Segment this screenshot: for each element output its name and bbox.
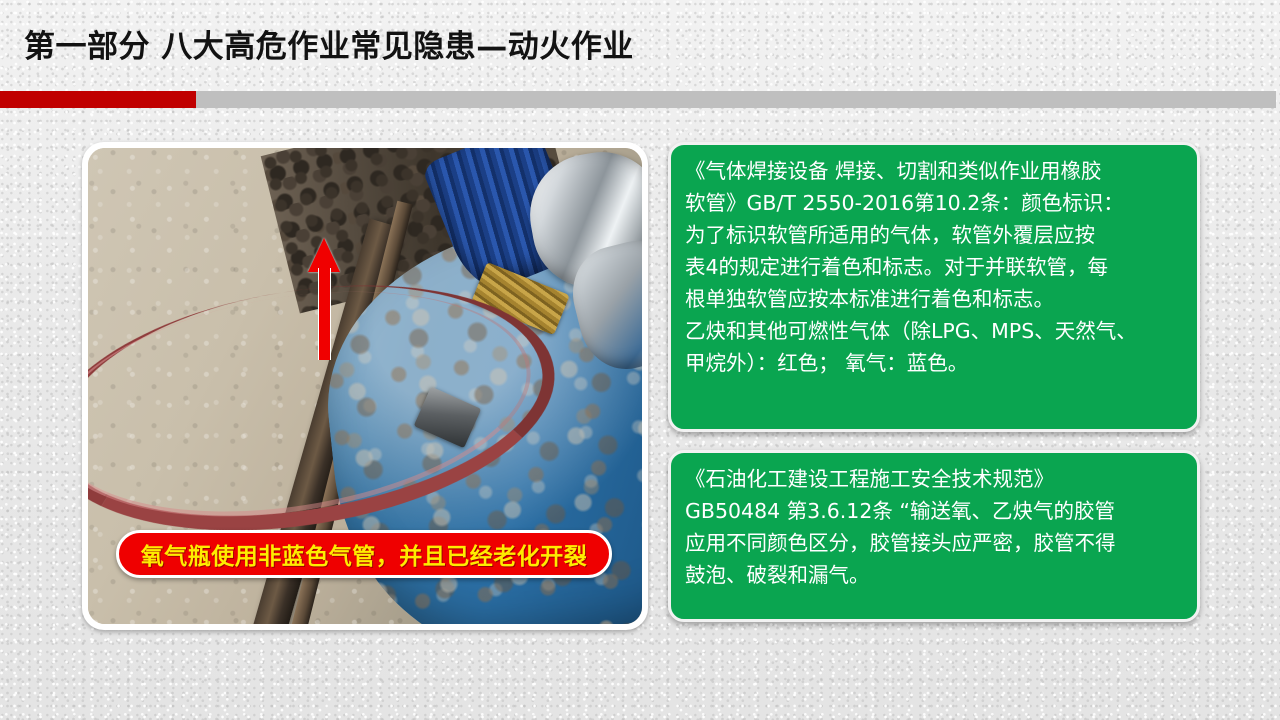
photo-caption-text: 氧气瓶使用非蓝色气管，并且已经老化开裂 — [141, 537, 588, 571]
note-line: 软管》GB/T 2550-2016第10.2条：颜色标识： — [685, 187, 1183, 219]
note-line: 甲烷外）：红色； 氧气：蓝色。 — [685, 347, 1183, 379]
arrow-shaft — [318, 268, 331, 360]
header-rule-red — [0, 91, 196, 108]
note-line: 《气体焊接设备 焊接、切割和类似作业用橡胶 — [685, 155, 1183, 187]
note-line: 表4的规定进行着色和标志。对于并联软管，每 — [685, 251, 1183, 283]
note-line: GB50484 第3.6.12条 “输送氧、乙炔气的胶管 — [685, 495, 1183, 527]
note-line: 根单独软管应按本标准进行着色和标志。 — [685, 283, 1183, 315]
slide-background: 第一部分 八大高危作业常见隐患—动火作业 氧气瓶使用非蓝色气管 — [0, 0, 1280, 720]
arrow-head — [308, 238, 340, 272]
note-line: 应用不同颜色区分，胶管接头应严密，胶管不得 — [685, 527, 1183, 559]
cylinder-photo: 氧气瓶使用非蓝色气管，并且已经老化开裂 — [88, 148, 642, 624]
photo-cylinder-highlight — [641, 355, 642, 497]
note-line: 为了标识软管所适用的气体，软管外覆层应按 — [685, 219, 1183, 251]
header-rule-gray — [196, 91, 1276, 108]
note-box-gbt2550: 《气体焊接设备 焊接、切割和类似作业用橡胶 软管》GB/T 2550-2016第… — [668, 142, 1200, 432]
photo-card: 氧气瓶使用非蓝色气管，并且已经老化开裂 — [82, 142, 648, 630]
note-box-gb50484: 《石油化工建设工程施工安全技术规范》 GB50484 第3.6.12条 “输送氧… — [668, 450, 1200, 622]
note-line: 《石油化工建设工程施工安全技术规范》 — [685, 463, 1183, 495]
note-line: 乙炔和其他可燃性气体（除LPG、MPS、天然气、 — [685, 315, 1183, 347]
photo-caption-banner: 氧气瓶使用非蓝色气管，并且已经老化开裂 — [116, 530, 612, 578]
page-title: 第一部分 八大高危作业常见隐患—动火作业 — [24, 28, 634, 67]
red-up-arrow-icon — [313, 238, 333, 358]
note-line: 鼓泡、破裂和漏气。 — [685, 559, 1183, 591]
